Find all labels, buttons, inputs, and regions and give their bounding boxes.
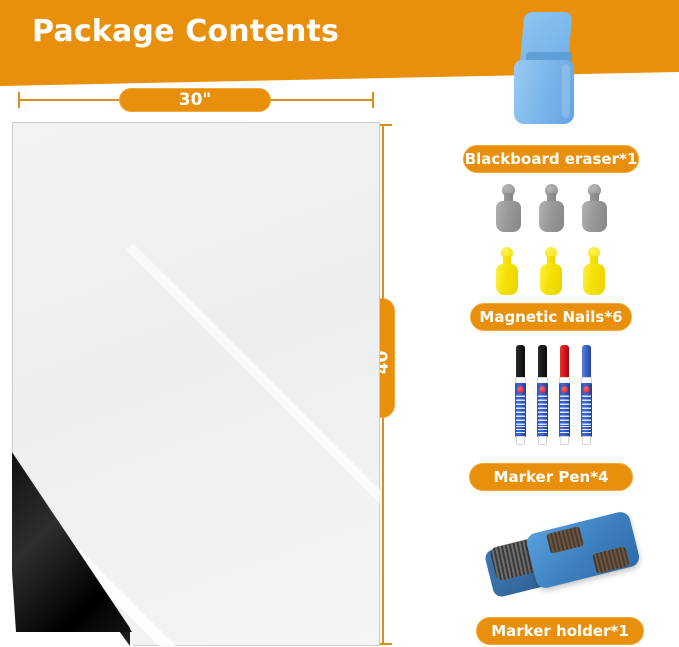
gloss-highlight — [159, 273, 488, 602]
page-title: Package Contents — [32, 14, 339, 49]
label-text: Marker holder*1 — [491, 622, 629, 640]
marker-logo-dot — [583, 386, 590, 393]
width-dim-cap-right — [372, 92, 374, 108]
marker-pen-black — [513, 345, 528, 445]
marker-sub-text — [560, 425, 569, 433]
magnetic-nail-gray — [493, 184, 523, 232]
magnetic-nail-yellow — [538, 247, 565, 295]
label-marker-pen: Marker Pen*4 — [469, 463, 633, 491]
magnetic-nail-gray — [579, 184, 609, 232]
marker-sub-text — [538, 425, 547, 433]
whiteboard-illustration — [12, 122, 380, 646]
label-text: Marker Pen*4 — [494, 468, 609, 486]
marker-logo-dot — [539, 386, 546, 393]
marker-logo-dot — [561, 386, 568, 393]
magnetic-nail-gray — [536, 184, 566, 232]
nail-body — [540, 264, 562, 295]
label-blackboard-eraser: Blackboard eraser*1 — [463, 145, 639, 173]
marker-cap — [582, 345, 591, 378]
marker-brand-text — [516, 395, 525, 425]
marker-cap — [560, 345, 569, 378]
marker-pen-red — [557, 345, 572, 445]
marker-pen-black — [535, 345, 550, 445]
label-marker-holder: Marker holder*1 — [476, 617, 644, 645]
marker-tip — [582, 436, 591, 445]
label-text: Blackboard eraser*1 — [465, 150, 638, 168]
marker-tip — [560, 436, 569, 445]
marker-brand-text — [538, 395, 547, 425]
magnetic-nail-yellow — [581, 247, 608, 295]
marker-tip — [538, 436, 547, 445]
width-label-text: 30" — [179, 90, 212, 110]
blackboard-eraser-illustration — [508, 12, 580, 124]
label-text: Magnetic Nails*6 — [479, 308, 622, 326]
nail-body — [539, 201, 564, 232]
infographic-canvas: Package Contents 30" 40" Blackboard eras… — [0, 0, 679, 647]
gloss-highlight — [126, 243, 458, 575]
marker-sub-text — [516, 425, 525, 433]
width-label-pill: 30" — [119, 88, 271, 112]
magnetic-nail-yellow — [494, 247, 521, 295]
marker-tip — [516, 436, 525, 445]
eraser-body — [514, 60, 574, 124]
marker-cap — [538, 345, 547, 378]
marker-brand-text — [582, 395, 591, 425]
nail-body — [582, 201, 607, 232]
label-magnetic-nails: Magnetic Nails*6 — [470, 303, 632, 331]
marker-holder-illustration — [488, 516, 648, 604]
marker-sub-text — [582, 425, 591, 433]
nail-body — [496, 201, 521, 232]
marker-pen-blue — [579, 345, 594, 445]
nail-body — [583, 264, 605, 295]
marker-cap — [516, 345, 525, 378]
nail-body — [496, 264, 518, 295]
marker-brand-text — [560, 395, 569, 425]
marker-logo-dot — [517, 386, 524, 393]
